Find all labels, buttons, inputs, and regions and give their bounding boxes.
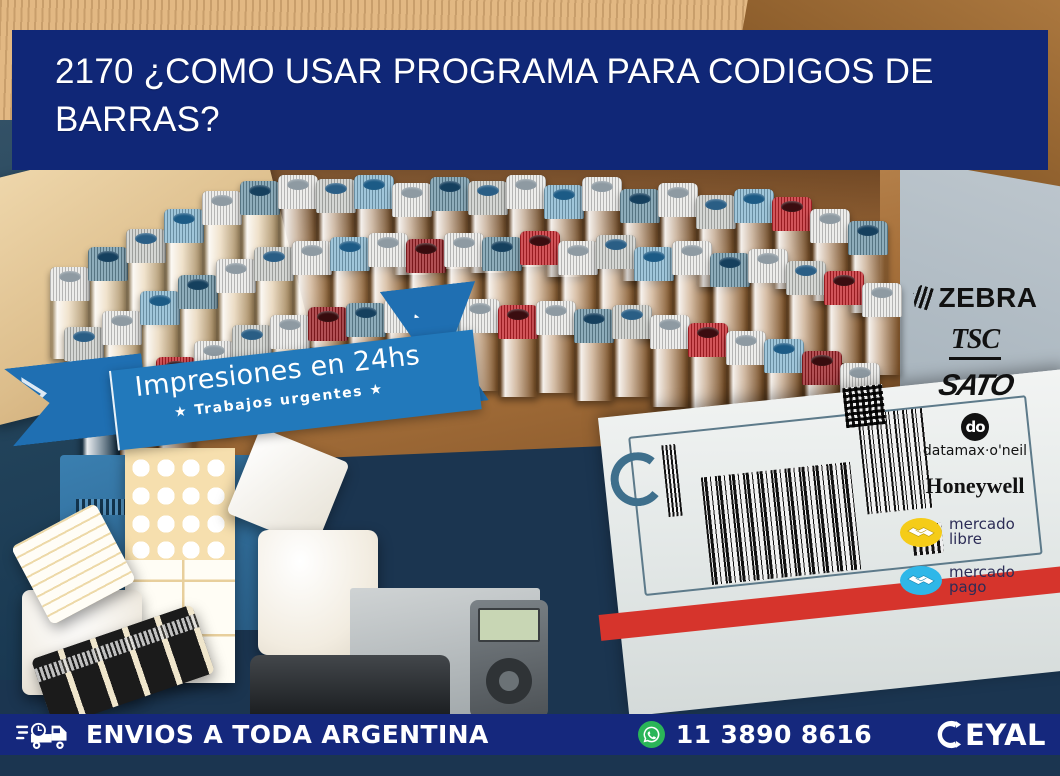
honeywell-logo-text: Honeywell: [926, 473, 1025, 499]
brand-logo-list: ZEBRA TSC SATO do datamax·o'neil Honeywe…: [900, 276, 1050, 604]
whatsapp-glyph: [642, 725, 661, 744]
sato-logo-text: SATO: [935, 369, 1015, 403]
printer-lcd-screen: [478, 608, 540, 642]
barcode-main: [701, 462, 861, 585]
datamax-circle-icon: do: [961, 413, 989, 441]
tsc-logo: TSC: [900, 320, 1050, 364]
eyal-c-mark-icon: [936, 719, 967, 750]
tsc-logo-text: TSC: [949, 324, 1001, 360]
datamax-logo-text: datamax·o'neil: [923, 443, 1027, 459]
mercado-libre-handshake-icon: [900, 518, 942, 547]
whatsapp-contact[interactable]: 11 3890 8616: [638, 720, 872, 749]
round-label-pattern: [125, 448, 235, 560]
zebra-logo-text: ZEBRA: [939, 282, 1038, 314]
sato-logo: SATO: [900, 364, 1050, 408]
promo-banner-image: Impresiones en 24hs ★ Trabajos urgentes …: [0, 0, 1060, 776]
datamatrix-code: [842, 384, 886, 428]
handshake-icon: [906, 573, 936, 587]
mercado-libre-line2: libre: [949, 530, 982, 548]
eyal-logo-text: EYAL: [965, 718, 1046, 752]
phone-number[interactable]: 11 3890 8616: [676, 720, 872, 749]
footer-bar: ENVIOS A TODA ARGENTINA 11 3890 8616 EYA…: [0, 714, 1060, 755]
zebra-logo: ZEBRA: [900, 276, 1050, 320]
printer-navigation-pad: [486, 658, 532, 704]
mercado-pago-line2: pago: [949, 578, 986, 596]
whatsapp-icon[interactable]: [638, 721, 665, 748]
zebra-head-icon: [913, 285, 935, 311]
mercado-pago-text: mercado pago: [949, 565, 1015, 595]
title-banner: 2170 ¿COMO USAR PROGRAMA PARA CODIGOS DE…: [12, 30, 1048, 170]
delivery-truck-icon: [16, 720, 74, 750]
handshake-icon: [906, 525, 936, 539]
mercado-pago-logo: mercado pago: [900, 556, 1050, 604]
mercado-libre-logo: mercado libre: [900, 508, 1050, 556]
desktop-label-printer: [250, 655, 450, 723]
printer-control-panel: [470, 600, 548, 718]
page-title: 2170 ¿COMO USAR PROGRAMA PARA CODIGOS DE…: [55, 48, 1048, 144]
shipping-text: ENVIOS A TODA ARGENTINA: [86, 720, 489, 749]
eyal-logo: EYAL: [936, 718, 1046, 752]
honeywell-logo: Honeywell: [900, 464, 1050, 508]
datamax-oneil-logo: do datamax·o'neil: [900, 408, 1050, 464]
mercado-libre-text: mercado libre: [949, 517, 1015, 547]
mercado-pago-handshake-icon: [900, 566, 942, 595]
